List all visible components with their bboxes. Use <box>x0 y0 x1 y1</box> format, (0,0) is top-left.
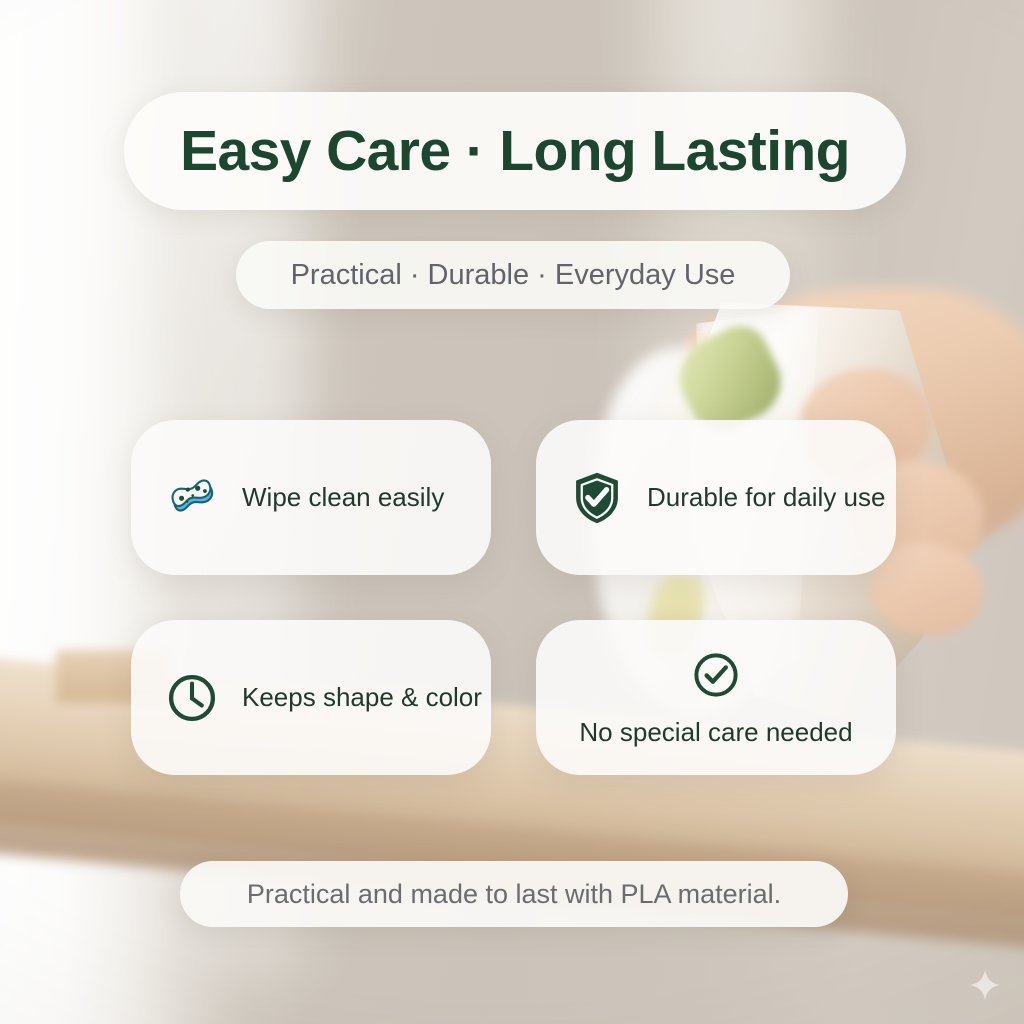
footer-banner: Practical and made to last with PLA mate… <box>180 861 848 927</box>
shield-check-icon <box>569 470 625 526</box>
feature-card-durable[interactable]: Durable for daily use <box>536 420 896 575</box>
page-title: Easy Care · Long Lasting <box>180 118 850 184</box>
feature-label: No special care needed <box>579 717 852 748</box>
footer-text: Practical and made to last with PLA mate… <box>247 879 781 910</box>
check-circle-icon <box>688 647 744 703</box>
subtitle-banner: Practical · Durable · Everyday Use <box>236 241 790 309</box>
feature-label: Keeps shape & color <box>242 682 482 713</box>
feature-label: Wipe clean easily <box>242 482 444 513</box>
overlay-content: Easy Care · Long Lasting Practical · Dur… <box>0 0 1024 1024</box>
title-banner: Easy Care · Long Lasting <box>124 92 906 210</box>
promo-graphic: Easy Care · Long Lasting Practical · Dur… <box>0 0 1024 1024</box>
sponge-icon <box>164 470 220 526</box>
page-subtitle: Practical · Durable · Everyday Use <box>291 259 736 292</box>
feature-label: Durable for daily use <box>647 482 885 513</box>
clock-icon <box>164 670 220 726</box>
feature-card-no-special-care[interactable]: No special care needed <box>536 620 896 775</box>
sparkle-icon <box>968 968 1002 1002</box>
feature-card-wipe-clean[interactable]: Wipe clean easily <box>131 420 491 575</box>
feature-card-keeps-shape[interactable]: Keeps shape & color <box>131 620 491 775</box>
